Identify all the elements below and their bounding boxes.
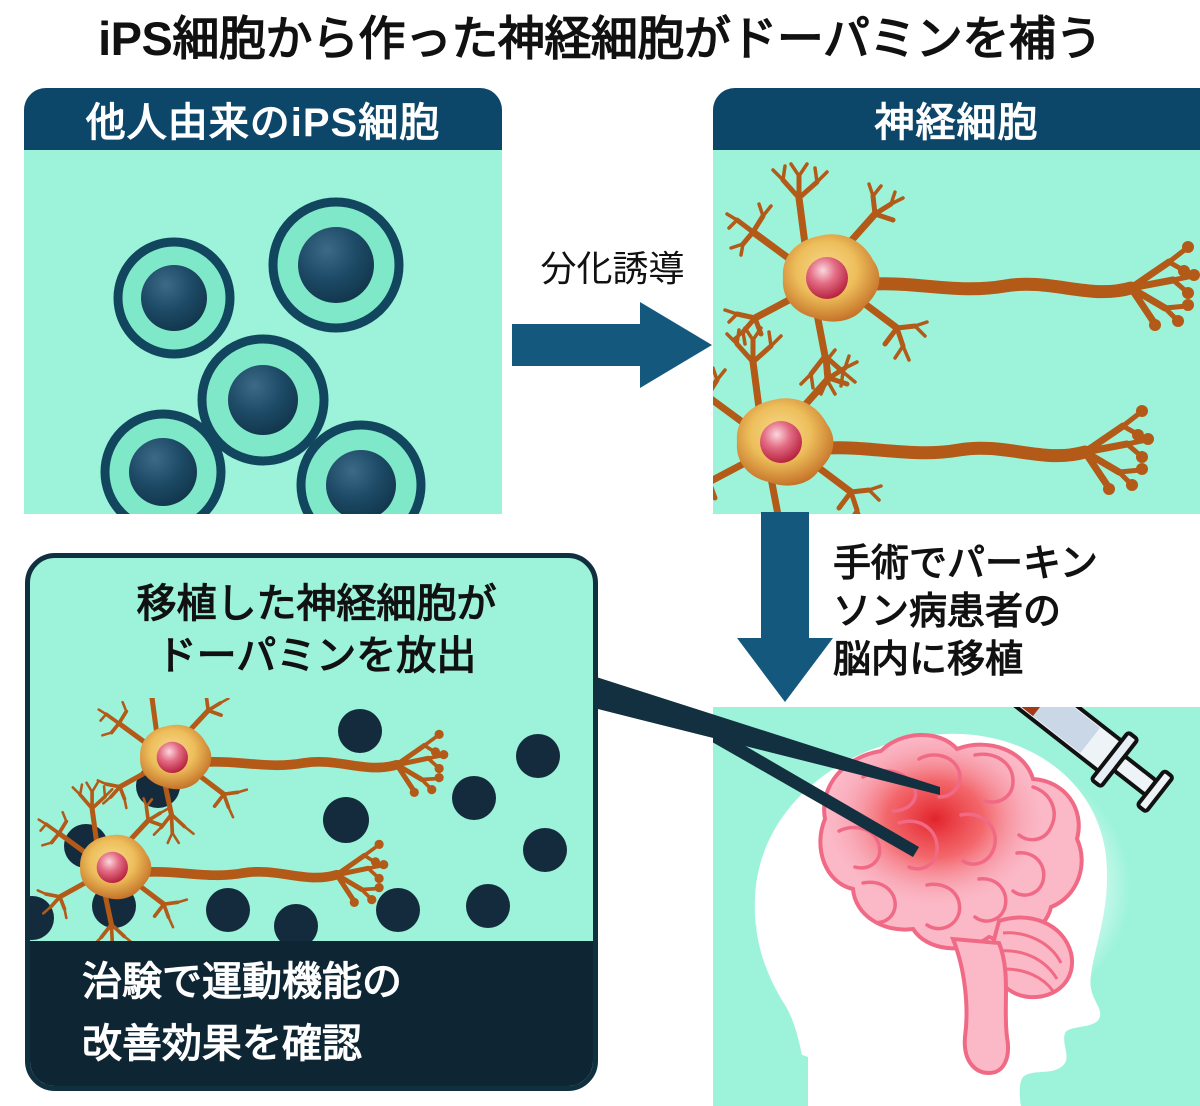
dopamine-dot [523, 828, 567, 872]
transplant-label-line-1: 手術でパーキン [833, 540, 1183, 588]
page-title: iPS細胞から作った神経細胞がドーパミンを補う [0, 8, 1200, 70]
transplant-instruction-label: 手術でパーキン ソン病患者の 脳内に移植 [833, 540, 1183, 684]
transplant-footer-line-2: 改善効果を確認 [82, 1013, 598, 1075]
dopamine-dot [452, 776, 496, 820]
arrow-right-icon [512, 300, 712, 390]
dopamine-dot [323, 797, 369, 843]
transplant-label-line-2: ソン病患者の [833, 588, 1183, 636]
ips-cell [301, 425, 421, 514]
dopamine-dot [30, 896, 54, 940]
transplant-footer-line-1: 治験で運動機能の [82, 951, 598, 1013]
pointer-wedge-connector [590, 675, 940, 805]
neuron-panel-header: 神経細胞 [713, 88, 1200, 150]
ips-cells-illustration [24, 150, 502, 514]
transplant-result-card: 移植した神経細胞が ドーパミンを放出 [25, 553, 598, 1091]
neuron-illustration [713, 150, 1200, 514]
transplant-card-footer: 治験で運動機能の 改善効果を確認 [30, 941, 598, 1086]
neuron-panel-body [713, 150, 1200, 514]
ips-cell [105, 414, 221, 514]
dopamine-dot [516, 734, 560, 778]
differentiate-label: 分化誘導 [505, 240, 720, 292]
ips-cell [202, 339, 324, 461]
dopamine-dot [338, 709, 382, 753]
ips-cell [118, 242, 230, 354]
ips-cell [273, 202, 399, 328]
dopamine-dot [206, 888, 250, 932]
dopamine-dot [376, 888, 420, 932]
arrow-down-icon [735, 512, 835, 702]
transplant-caption-line-2: ドーパミンを放出 [30, 630, 598, 682]
neuron-cell [725, 164, 1200, 394]
dopamine-release-illustration [30, 698, 598, 958]
neuron-cell [713, 328, 1154, 514]
ips-cell-group [105, 202, 421, 514]
transplant-caption-line-1: 移植した神経細胞が [30, 578, 598, 630]
ips-panel-body [24, 150, 502, 514]
ips-panel-header: 他人由来のiPS細胞 [24, 88, 502, 150]
transplant-card-caption: 移植した神経細胞が ドーパミンを放出 [30, 578, 598, 682]
dopamine-dot [466, 884, 510, 928]
